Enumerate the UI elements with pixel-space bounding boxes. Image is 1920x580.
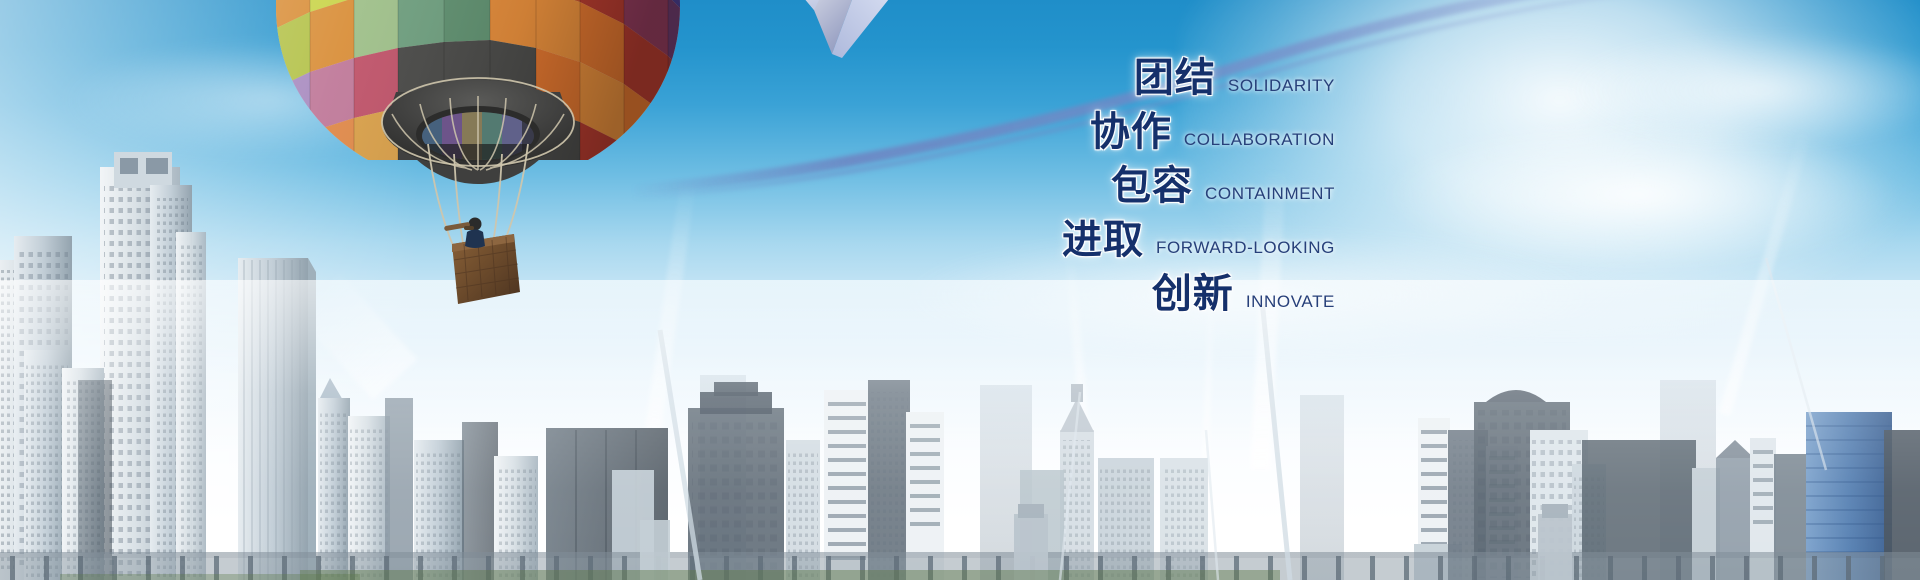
slogan-en-innovate: INNOVATE xyxy=(1246,293,1335,310)
slogan-line: 团结 SOLIDARITY xyxy=(1134,58,1335,98)
slogan-cn-innovate: 创新 xyxy=(1152,274,1234,314)
slogan-line: 进取 FORWARD-LOOKING xyxy=(1062,220,1335,260)
slogan-en-forward-looking: FORWARD-LOOKING xyxy=(1156,239,1335,256)
slogan-cn-solidarity: 团结 xyxy=(1134,58,1216,98)
slogan-cn-forward-looking: 进取 xyxy=(1062,220,1144,260)
culture-banner: 团结 SOLIDARITY 协作 COLLABORATION 包容 CONTAI… xyxy=(0,0,1920,580)
slogan-en-solidarity: SOLIDARITY xyxy=(1228,77,1335,94)
slogan-block: 团结 SOLIDARITY 协作 COLLABORATION 包容 CONTAI… xyxy=(855,58,1335,314)
slogan-line: 包容 CONTAINMENT xyxy=(1111,166,1335,206)
slogan-cn-collaboration: 协作 xyxy=(1090,112,1172,152)
slogan-cn-containment: 包容 xyxy=(1111,166,1193,206)
hot-air-balloon xyxy=(268,0,688,322)
slogan-line: 创新 INNOVATE xyxy=(1152,274,1335,314)
slogan-en-containment: CONTAINMENT xyxy=(1205,185,1335,202)
slogan-line: 协作 COLLABORATION xyxy=(1090,112,1335,152)
slogan-en-collaboration: COLLABORATION xyxy=(1184,131,1335,148)
